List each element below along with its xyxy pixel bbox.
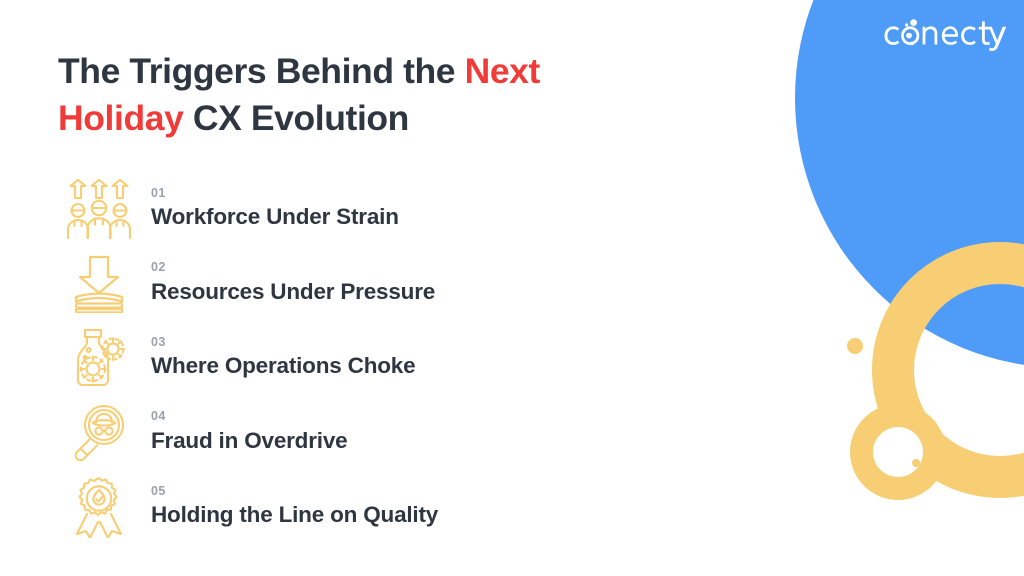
- list-item-number: 03: [151, 336, 738, 349]
- list-item-number: 01: [151, 187, 738, 200]
- conectys-logo[interactable]: [882, 19, 1006, 53]
- list-item[interactable]: 04 Fraud in Overdrive: [58, 396, 738, 471]
- list-item-text: 04 Fraud in Overdrive: [140, 410, 738, 455]
- title-line1-static: The Triggers Behind the: [58, 51, 465, 91]
- list-item-number: 05: [151, 485, 738, 498]
- list-item-text: 01 Workforce Under Strain: [140, 187, 738, 232]
- people-with-up-arrows-icon: [58, 176, 140, 242]
- magnifier-with-spy-icon: [58, 400, 140, 466]
- list-item-text: 02 Resources Under Pressure: [140, 261, 738, 306]
- list-item-label: Resources Under Pressure: [151, 280, 738, 305]
- award-rosette-ribbon-icon: [58, 474, 140, 540]
- flask-with-gears-icon: [58, 325, 140, 391]
- yellow-dot-bottom: [938, 458, 964, 484]
- list-item[interactable]: 05 Holding the Line on Quality: [58, 470, 738, 545]
- blue-circle-decoration: [795, 0, 1024, 368]
- title-line2-static: CX Evolution: [183, 98, 409, 138]
- list-item-number: 04: [151, 410, 738, 423]
- list-item-label: Workforce Under Strain: [151, 205, 738, 230]
- title-accent-holiday: Holiday: [58, 98, 183, 138]
- slide-canvas: The Triggers Behind the NextHoliday CX E…: [0, 0, 1024, 576]
- list-item[interactable]: 03 Where Operations Choke: [58, 321, 738, 396]
- list-item-number: 02: [151, 261, 738, 274]
- yellow-dot-left: [847, 338, 863, 354]
- list-item[interactable]: 02 Resources Under Pressure: [58, 247, 738, 322]
- list-item-text: 05 Holding the Line on Quality: [140, 485, 738, 530]
- list-item-text: 03 Where Operations Choke: [140, 336, 738, 381]
- list-item-label: Holding the Line on Quality: [151, 503, 738, 528]
- page-title: The Triggers Behind the NextHoliday CX E…: [58, 48, 678, 141]
- list-item-label: Where Operations Choke: [151, 354, 738, 379]
- yellow-dot-small-bottom: [912, 459, 920, 467]
- title-accent-next: Next: [465, 51, 540, 91]
- list-item[interactable]: 01 Workforce Under Strain: [58, 172, 738, 247]
- trigger-list: 01 Workforce Under Strain 02 Resource: [58, 172, 738, 545]
- down-arrow-on-stacked-layers-icon: [58, 251, 140, 317]
- list-item-label: Fraud in Overdrive: [151, 429, 738, 454]
